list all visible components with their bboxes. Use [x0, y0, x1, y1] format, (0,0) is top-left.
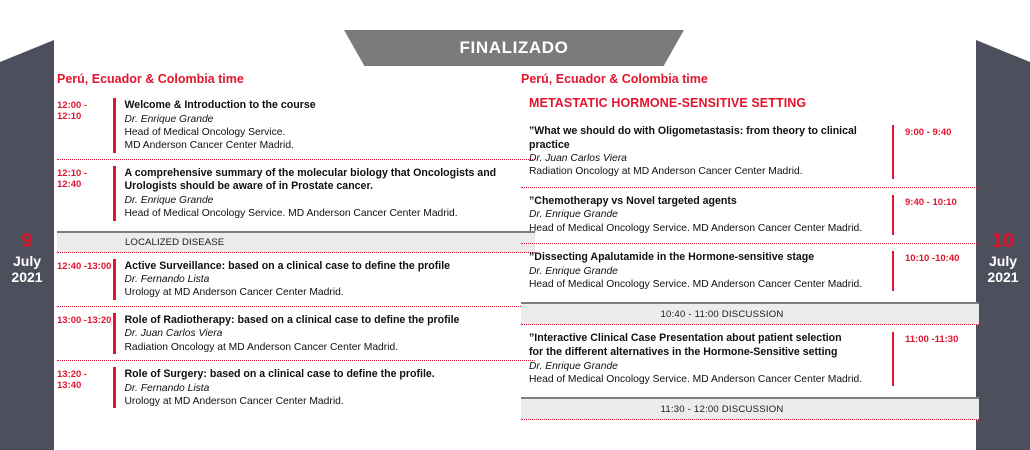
session-affiliation: Head of Medical Oncology Service. MD And… — [529, 373, 882, 386]
session-time: 9:00 - 9:40 — [894, 125, 979, 138]
session-affiliation: Urology at MD Anderson Cancer Center Mad… — [125, 286, 536, 299]
session-speaker: Dr. Enrique Grande — [529, 208, 882, 221]
day-month-right: July — [976, 253, 1030, 269]
session-speaker: Dr. Enrique Grande — [125, 113, 536, 126]
day-year-left: 2021 — [0, 269, 54, 285]
discussion-label: 10:40 - 11:00 DISCUSSION — [661, 309, 840, 320]
session-time: 10:10 -10:40 — [894, 251, 979, 264]
session-entry: ”Chemotherapy vs Novel targeted agents D… — [521, 195, 892, 235]
session-affiliation: Head of Medical Oncology Service. MD And… — [529, 278, 882, 291]
session-affiliation: MD Anderson Cancer Center Madrid. — [125, 139, 536, 152]
session-entry: Welcome & Introduction to the course Dr.… — [125, 98, 536, 153]
agenda-row: ”What we should do with Oligometastasis:… — [521, 118, 979, 187]
session-speaker: Dr. Enrique Grande — [125, 194, 536, 207]
session-affiliation: Urology at MD Anderson Cancer Center Mad… — [125, 395, 536, 408]
session-speaker: Dr. Juan Carlos Viera — [529, 152, 882, 165]
session-affiliation: Head of Medical Oncology Service. MD And… — [529, 222, 882, 235]
session-entry: ”Dissecting Apalutamide in the Hormone-s… — [521, 251, 892, 291]
discussion-band: 11:30 - 12:00 DISCUSSION — [521, 397, 979, 420]
session-speaker: Dr. Fernando Lista — [125, 382, 536, 395]
timeline-rule — [113, 166, 116, 221]
timeline-rule — [113, 259, 116, 300]
day-panel-left-text: 9 July 2021 — [0, 230, 54, 285]
day-year-right: 2021 — [976, 269, 1030, 285]
session-time: 13:20 - 13:40 — [57, 367, 113, 391]
session-affiliation: Radiation Oncology at MD Anderson Cancer… — [529, 165, 882, 178]
session-time: 13:00 -13:20 — [57, 313, 113, 326]
session-entry: Active Surveillance: based on a clinical… — [125, 259, 536, 300]
section-band-localized-disease: LOCALIZED DISEASE — [57, 231, 535, 253]
agenda-row: 12:00 - 12:10 Welcome & Introduction to … — [57, 92, 535, 159]
section-title-metastatic: METASTATIC HORMONE-SENSITIVE SETTING — [529, 96, 979, 110]
session-entry: Role of Radiotherapy: based on a clinica… — [125, 313, 536, 354]
session-title: for the different alternatives in the Ho… — [529, 346, 882, 360]
agenda-row: ”Chemotherapy vs Novel targeted agents D… — [521, 187, 979, 243]
session-time: 9:40 - 10:10 — [894, 195, 979, 208]
session-speaker: Dr. Fernando Lista — [125, 273, 536, 286]
session-title: Active Surveillance: based on a clinical… — [125, 260, 536, 274]
agenda-row: 13:00 -13:20 Role of Radiotherapy: based… — [57, 306, 535, 360]
agenda-row: ”Dissecting Apalutamide in the Hormone-s… — [521, 243, 979, 299]
session-time: 12:00 - 12:10 — [57, 98, 113, 122]
timeline-rule — [113, 98, 116, 153]
session-title: ”Dissecting Apalutamide in the Hormone-s… — [529, 251, 882, 265]
agenda-column-day-9: Perú, Ecuador & Colombia time 12:00 - 12… — [57, 72, 535, 414]
session-speaker: Dr. Juan Carlos Viera — [125, 327, 536, 340]
session-entry: Role of Surgery: based on a clinical cas… — [125, 367, 536, 408]
session-title: ”Interactive Clinical Case Presentation … — [529, 332, 882, 346]
session-title: Welcome & Introduction to the course — [125, 99, 536, 113]
session-title: ”Chemotherapy vs Novel targeted agents — [529, 195, 882, 209]
session-speaker: Dr. Enrique Grande — [529, 265, 882, 278]
session-time: 11:00 -11:30 — [894, 332, 979, 345]
session-time: 12:10 - 12:40 — [57, 166, 113, 190]
session-affiliation: Head of Medical Oncology Service. — [125, 126, 536, 139]
day-number-right: 10 — [976, 230, 1030, 253]
session-title: Role of Surgery: based on a clinical cas… — [125, 368, 536, 382]
section-band-label: LOCALIZED DISEASE — [57, 237, 224, 248]
header-banner-area: FINALIZADO — [0, 0, 1030, 68]
session-entry: ”What we should do with Oligometastasis:… — [521, 125, 892, 179]
day-panel-right: 10 July 2021 — [976, 40, 1030, 450]
agenda-row: 13:20 - 13:40 Role of Surgery: based on … — [57, 360, 535, 414]
session-title: ”What we should do with Oligometastasis:… — [529, 125, 882, 152]
session-affiliation: Head of Medical Oncology Service. MD And… — [125, 207, 536, 220]
timezone-heading-right: Perú, Ecuador & Colombia time — [521, 72, 979, 86]
session-affiliation: Radiation Oncology at MD Anderson Cancer… — [125, 341, 536, 354]
day-month-left: July — [0, 253, 54, 269]
timezone-heading-left: Perú, Ecuador & Colombia time — [57, 72, 535, 86]
day-number-left: 9 — [0, 230, 54, 253]
agenda-column-day-10: Perú, Ecuador & Colombia time METASTATIC… — [521, 72, 979, 420]
discussion-band: 10:40 - 11:00 DISCUSSION — [521, 302, 979, 325]
timeline-rule — [113, 367, 116, 408]
timeline-rule — [113, 313, 116, 354]
status-badge: FINALIZADO — [460, 38, 569, 58]
session-speaker: Dr. Enrique Grande — [529, 360, 882, 373]
day-panel-right-text: 10 July 2021 — [976, 230, 1030, 285]
day-panel-left: 9 July 2021 — [0, 40, 54, 450]
session-time: 12:40 -13:00 — [57, 259, 113, 272]
agenda-row: 12:10 - 12:40 A comprehensive summary of… — [57, 159, 535, 227]
agenda-row: 12:40 -13:00 Active Surveillance: based … — [57, 253, 535, 306]
session-entry: ”Interactive Clinical Case Presentation … — [521, 332, 892, 386]
session-title: A comprehensive summary of the molecular… — [125, 167, 536, 194]
agenda-row: ”Interactive Clinical Case Presentation … — [521, 325, 979, 394]
session-entry: A comprehensive summary of the molecular… — [125, 166, 536, 221]
discussion-label: 11:30 - 12:00 DISCUSSION — [661, 404, 840, 415]
session-title: Role of Radiotherapy: based on a clinica… — [125, 314, 536, 328]
status-banner: FINALIZADO — [344, 30, 684, 66]
